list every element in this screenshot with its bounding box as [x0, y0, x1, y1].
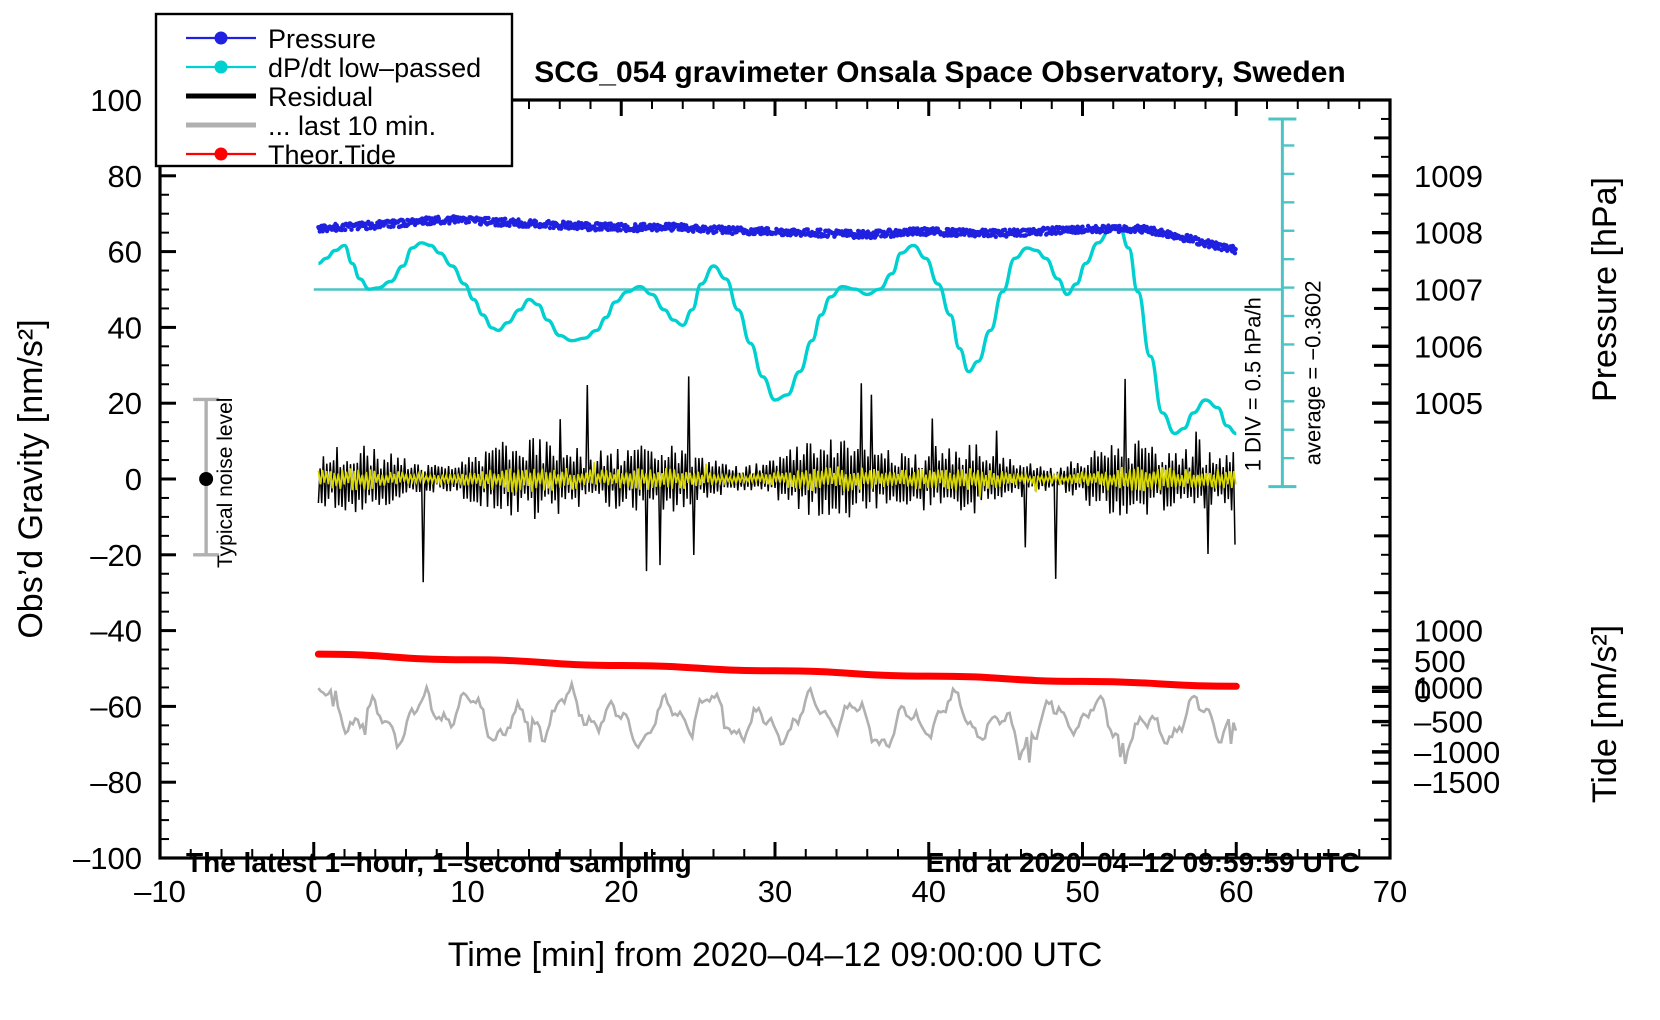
x-tick-label: 40 [912, 874, 946, 909]
scalebar-div-label: 1 DIV = 0.5 hPa/h [1240, 297, 1265, 471]
legend-item-label: Theor.Tide [268, 140, 396, 170]
noise-marker-label: Typical noise level [214, 398, 237, 568]
y-tick-label: –80 [90, 765, 142, 800]
tide-tick-label: –1500 [1414, 765, 1500, 800]
series-theor-tide [318, 654, 1236, 686]
y-tick-label: 80 [108, 159, 142, 194]
scalebar-average-label: average = −0.3602 [1300, 281, 1325, 466]
legend-swatch-dot [215, 148, 228, 161]
series-pressure [316, 214, 1238, 255]
y-axis-right: 10091008100710061005100010005000–500–100… [1372, 100, 1624, 858]
y-tick-label: –40 [90, 614, 142, 649]
series-dpdt-lowpassed [318, 227, 1236, 433]
legend: PressuredP/dt low–passedResidual... last… [156, 14, 512, 170]
y-axis-left: 100806040200–20–40–60–80–100Obs’d Gravit… [12, 83, 176, 876]
x-tick-label: –10 [134, 874, 186, 909]
x-tick-label: 0 [305, 874, 322, 909]
legend-swatch-dot [215, 61, 228, 74]
y-tick-label: 100 [90, 83, 142, 118]
legend-item-label: ... last 10 min. [268, 111, 436, 141]
pressure-axis-title: Pressure [hPa] [1586, 177, 1624, 402]
legend-item-label: Pressure [268, 24, 376, 54]
legend-swatch-dot [215, 32, 228, 45]
y-tick-label: –20 [90, 538, 142, 573]
x-tick-label: 70 [1373, 874, 1407, 909]
y-tick-label: 60 [108, 235, 142, 270]
tide-axis-title: Tide [nm/s²] [1586, 625, 1624, 803]
series-last-10-min [318, 684, 1236, 764]
pressure-tick-label: 1006 [1414, 329, 1483, 364]
x-tick-label: 60 [1219, 874, 1253, 909]
annotation-bottom-right: End at 2020–04–12 09:59:59 UTC [926, 847, 1360, 878]
x-tick-label: 50 [1065, 874, 1099, 909]
typical-noise-marker: Typical noise level [193, 398, 237, 568]
x-axis-title: Time [min] from 2020–04–12 09:00:00 UTC [448, 936, 1103, 974]
x-tick-label: 10 [450, 874, 484, 909]
pressure-tick-label: 1007 [1414, 273, 1483, 308]
legend-item-label: Residual [268, 82, 373, 112]
y-tick-label: –100 [73, 841, 142, 876]
y-tick-label: 20 [108, 386, 142, 421]
chart-canvas: –10010203040506070Time [min] from 2020–0… [0, 0, 1660, 1020]
pressure-tick-label: 1008 [1414, 216, 1483, 251]
annotation-bottom-left: The latest 1–hour, 1–second sampling [186, 847, 692, 878]
page-title: SCG_054 gravimeter Onsala Space Observat… [534, 56, 1346, 89]
x-tick-label: 20 [604, 874, 638, 909]
x-tick-label: 30 [758, 874, 792, 909]
y-tick-label: –60 [90, 689, 142, 724]
noise-center-dot [199, 472, 213, 486]
data-series [316, 214, 1238, 764]
y-axis-title: Obs’d Gravity [nm/s²] [12, 319, 50, 638]
pressure-tick-label: 1009 [1414, 159, 1483, 194]
y-tick-label: 40 [108, 310, 142, 345]
gravimeter-chart-figure: –10010203040506070Time [min] from 2020–0… [0, 0, 1660, 1020]
y-tick-label: 0 [125, 462, 142, 497]
pressure-tick-label: 1005 [1414, 386, 1483, 421]
legend-item-label: dP/dt low–passed [268, 53, 481, 83]
